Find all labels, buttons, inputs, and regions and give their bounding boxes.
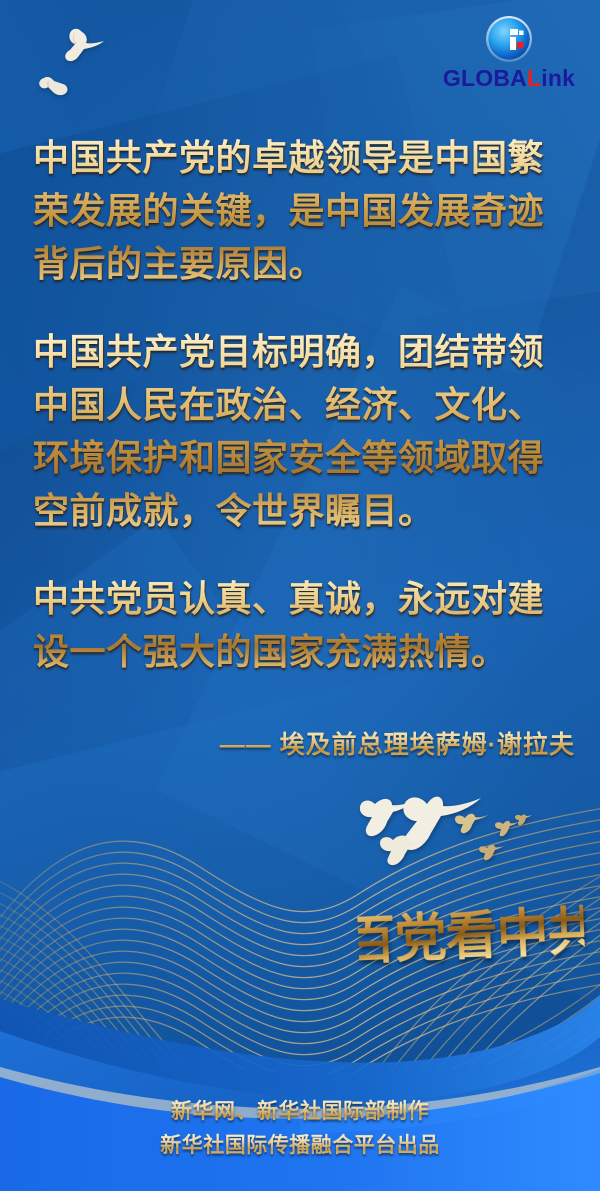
dove-icon xyxy=(52,26,106,68)
globe-link-logo-icon xyxy=(484,14,534,64)
logo-text-ink: ink xyxy=(541,65,575,91)
quote-block: 中国共产党的卓越领导是中国繁荣发展的关键，是中国发展奇迹背后的主要原因。 中国共… xyxy=(33,131,573,678)
poster-canvas: GLOBALink 中国共产党的卓越领导是中国繁荣发展的关键，是中国发展奇迹背后… xyxy=(0,0,600,1191)
footer-credit-line-2: 新华社国际传播融合平台出品 xyxy=(160,1131,440,1161)
poster-header: GLOBALink xyxy=(0,0,600,120)
quote-paragraph-3: 中共党员认真、真诚，永远对建设一个强大的国家充满热情。 xyxy=(33,572,573,678)
poster-footer: 新华网、新华社国际部制作 新华社国际传播融合平台出品 xyxy=(0,1066,600,1191)
quote-paragraph-2: 中国共产党目标明确，团结带领中国人民在政治、经济、文化、环境保护和国家安全等领域… xyxy=(33,325,573,537)
quote-paragraph-1: 中国共产党的卓越领导是中国繁荣发展的关键，是中国发展奇迹背后的主要原因。 xyxy=(33,131,573,290)
globalink-wordmark: GLOBALink xyxy=(434,67,584,90)
campaign-seal-calligraphy: 百党看中共 xyxy=(356,888,585,974)
logo-text-globa: GLOBA xyxy=(443,65,527,91)
quote-attribution: —— 埃及前总理埃萨姆·谢拉夫 xyxy=(0,728,575,762)
footer-credit-line-1: 新华网、新华社国际部制作 xyxy=(171,1097,429,1127)
globalink-logo[interactable]: GLOBALink xyxy=(434,14,584,90)
dove-icon xyxy=(36,72,76,102)
logo-text-l: L xyxy=(527,65,541,91)
